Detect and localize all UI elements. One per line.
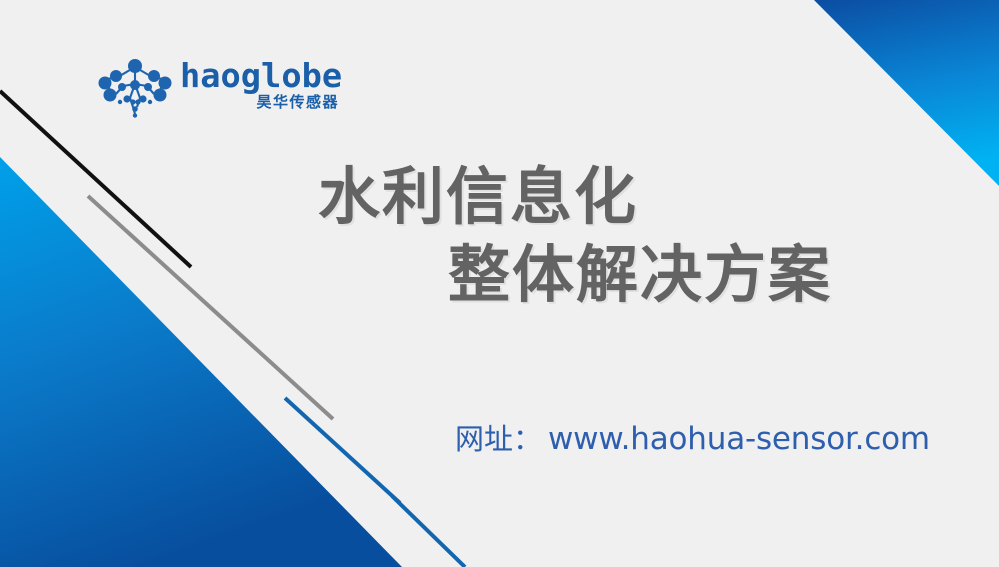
logo-chinese-name: 昊华传感器: [256, 94, 339, 111]
logo-wordmark: haoglobe: [180, 59, 342, 93]
website-url[interactable]: www.haohua-sensor.com: [548, 418, 930, 460]
website-label: 网址：: [455, 418, 542, 460]
title-line-1: 水利信息化: [0, 158, 999, 236]
presentation-slide: haoglobe 昊华传感器 水利信息化 整体解决方案 网址： www.haoh…: [0, 0, 999, 567]
title-line-2: 整体解决方案: [0, 236, 999, 314]
molecule-network-icon: [96, 57, 174, 119]
logo-text-block: haoglobe 昊华传感器: [180, 57, 339, 111]
website-line: 网址： www.haohua-sensor.com: [455, 418, 930, 460]
company-logo: haoglobe 昊华传感器: [96, 57, 339, 119]
slide-title: 水利信息化 整体解决方案: [0, 158, 999, 314]
